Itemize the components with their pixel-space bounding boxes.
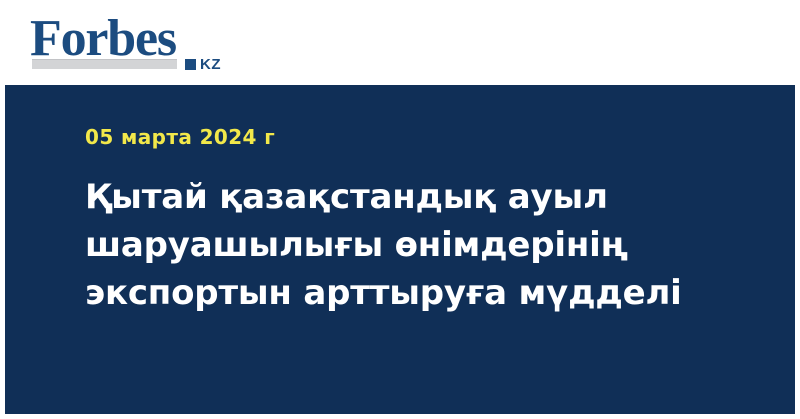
article-card-page: Forbes KZ 05 марта 2024 г Қытай қазақста…	[0, 0, 800, 419]
frame-edge-right	[795, 85, 800, 419]
logo-square-icon	[185, 59, 196, 70]
article-headline: Қытай қазақстандық ауыл шаруашылығы өнім…	[85, 173, 645, 317]
frame-edge-bottom	[0, 414, 800, 419]
headline-line-1: Қытай қазақстандық ауыл	[85, 173, 645, 221]
headline-line-3: экспортын арттыруға мүдделі	[85, 269, 645, 317]
frame-edge-left	[0, 85, 5, 419]
article-hero-card: 05 марта 2024 г Қытай қазақстандық ауыл …	[5, 85, 795, 414]
logo-gray-rule	[32, 59, 177, 69]
forbes-wordmark: Forbes	[30, 13, 176, 65]
logo-kz-group: KZ	[185, 57, 221, 72]
article-date: 05 марта 2024 г	[85, 125, 275, 149]
forbes-kz-logo[interactable]: Forbes KZ	[30, 13, 245, 75]
site-header: Forbes KZ	[0, 0, 800, 85]
logo-kz-suffix: KZ	[200, 57, 221, 72]
headline-line-2: шаруашылығы өнімдерінің	[85, 221, 645, 269]
